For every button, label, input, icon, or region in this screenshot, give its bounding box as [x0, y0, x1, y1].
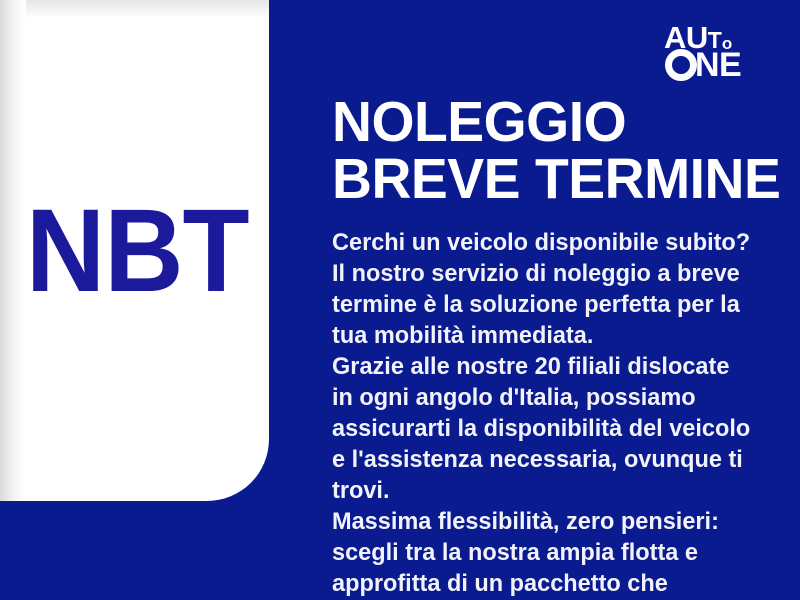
- logo-ring-o-icon: [665, 49, 697, 81]
- body-paragraph: Cerchi un veicolo disponibile subito? Il…: [332, 227, 753, 351]
- content-column: NOLEGGIO BREVE TERMINE Cerchi un veicolo…: [332, 94, 762, 600]
- page-title: NOLEGGIO BREVE TERMINE: [332, 94, 749, 208]
- left-white-panel: NBT: [0, 0, 269, 501]
- body-paragraph: Grazie alle nostre 20 filiali dislocate …: [332, 351, 753, 506]
- body-copy: Cerchi un veicolo disponibile subito? Il…: [332, 227, 753, 600]
- headline-line-1: NOLEGGIO: [332, 94, 749, 151]
- nbt-abbreviation: NBT: [9, 0, 259, 501]
- body-paragraph: Massima flessibilità, zero pensieri: sce…: [332, 506, 753, 600]
- auto-one-logo: AU T o NE: [664, 22, 776, 84]
- headline-line-2: BREVE TERMINE: [332, 151, 749, 208]
- logo-line-one: NE: [665, 48, 744, 82]
- logo-text-ne: NE: [695, 48, 741, 82]
- promo-poster: NBT AU T o NE NOLEGGIO BREVE TERMINE Cer…: [0, 0, 800, 600]
